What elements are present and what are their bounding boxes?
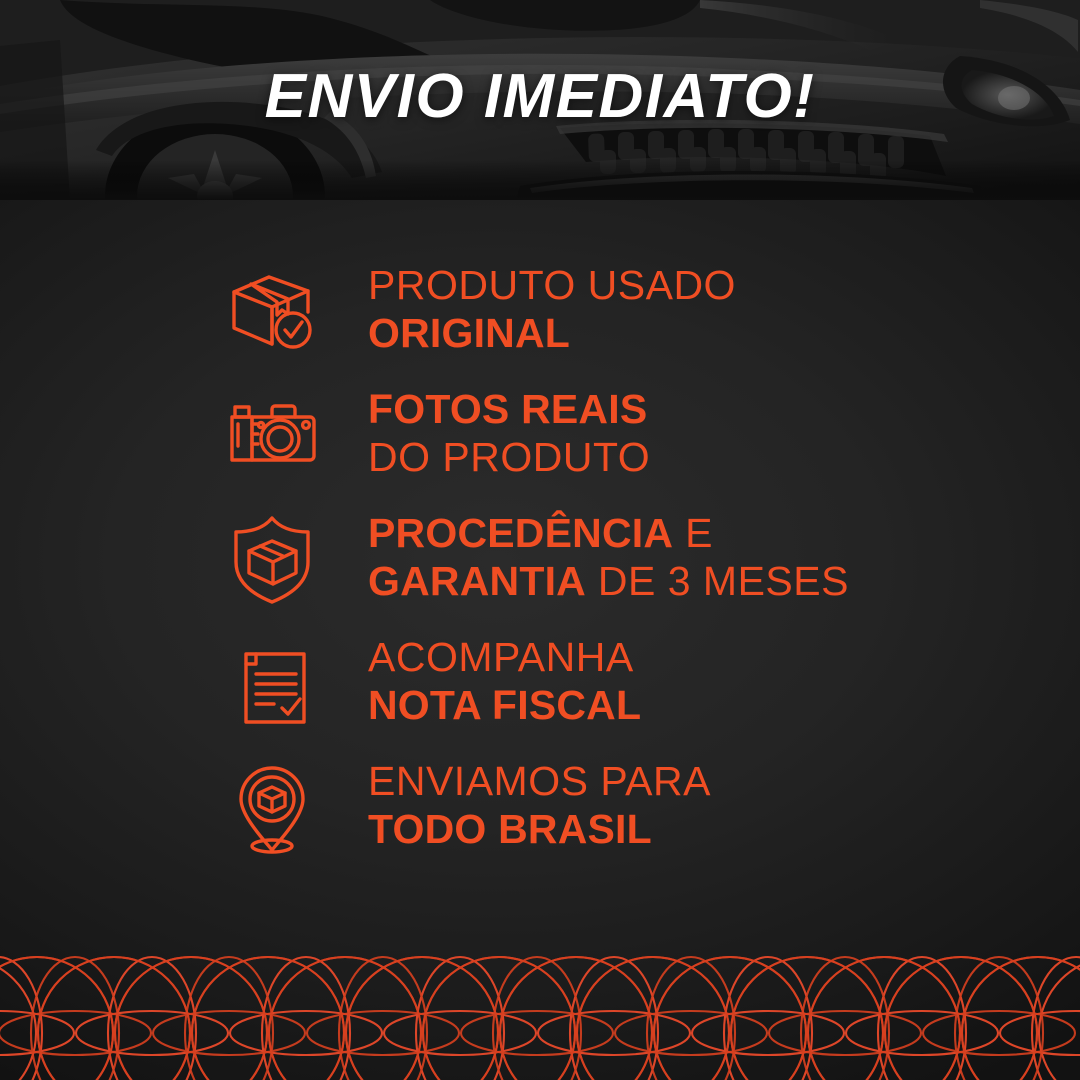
feature-line-1: ACOMPANHA <box>368 634 641 682</box>
feature-line-1: FOTOS REAIS <box>368 386 650 434</box>
feature-line-1: PRODUTO USADO <box>368 262 736 310</box>
feature-line-2: GARANTIA DE 3 MESES <box>368 558 849 606</box>
list-item-text: PRODUTO USADO ORIGINAL <box>368 262 736 357</box>
list-item: ENVIAMOS PARA TODO BRASIL <box>222 744 1080 868</box>
list-item-text: FOTOS REAIS DO PRODUTO <box>368 386 650 481</box>
list-item-text: ENVIAMOS PARA TODO BRASIL <box>368 758 711 853</box>
promo-canvas: ENVIO IMEDIATO! PRODUTO USADO ORIGINAL <box>0 0 1080 1080</box>
feature-line-2: ORIGINAL <box>368 310 736 358</box>
map-pin-package-icon <box>222 754 326 858</box>
invoice-check-icon <box>222 630 326 734</box>
list-item: FOTOS REAIS DO PRODUTO <box>222 372 1080 496</box>
feature-line-2: NOTA FISCAL <box>368 682 641 730</box>
hero-banner: ENVIO IMEDIATO! <box>0 0 1080 200</box>
decorative-pattern <box>0 955 1080 1080</box>
camera-icon <box>222 382 326 486</box>
page-title: ENVIO IMEDIATO! <box>0 66 1080 128</box>
list-item-text: ACOMPANHA NOTA FISCAL <box>368 634 641 729</box>
feature-line-1: ENVIAMOS PARA <box>368 758 711 806</box>
list-item: ACOMPANHA NOTA FISCAL <box>222 620 1080 744</box>
shield-package-icon <box>222 506 326 610</box>
feature-line-2: TODO BRASIL <box>368 806 711 854</box>
package-check-icon <box>222 258 326 362</box>
feature-list: PRODUTO USADO ORIGINAL <box>0 200 1080 900</box>
list-item: PRODUTO USADO ORIGINAL <box>222 248 1080 372</box>
feature-line-2: DO PRODUTO <box>368 434 650 482</box>
feature-line-1: PROCEDÊNCIA E <box>368 510 849 558</box>
list-item-text: PROCEDÊNCIA E GARANTIA DE 3 MESES <box>368 510 849 605</box>
list-item: PROCEDÊNCIA E GARANTIA DE 3 MESES <box>222 496 1080 620</box>
circle-lattice-pattern <box>0 955 1080 1080</box>
